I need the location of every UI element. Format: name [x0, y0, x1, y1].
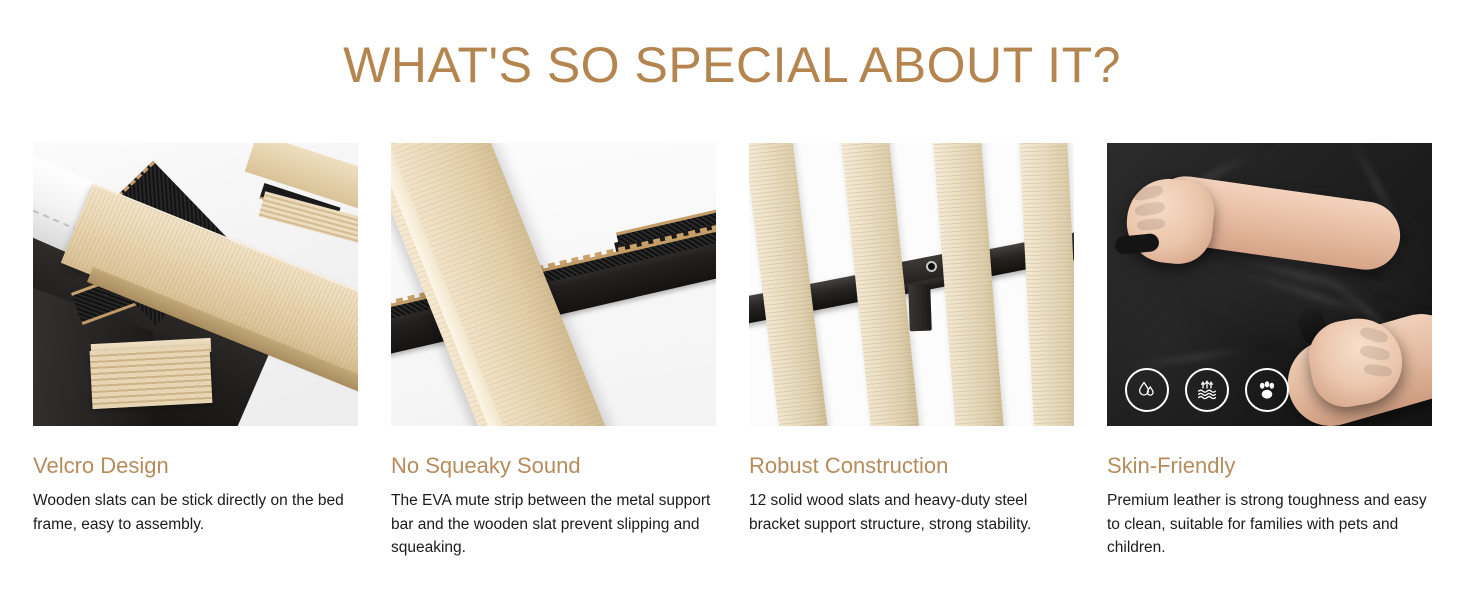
feature-description: Wooden slats can be stick directly on th…	[33, 489, 358, 536]
no-squeaky-sound-image	[391, 143, 716, 426]
skin-friendly-image	[1107, 143, 1432, 426]
breathable-badge	[1185, 368, 1229, 412]
feature-heading: Robust Construction	[749, 454, 1074, 478]
feature-description: The EVA mute strip between the metal sup…	[391, 489, 716, 560]
waterproof-badge	[1125, 368, 1169, 412]
feature-panel-velcro-design: Velcro Design Wooden slats can be stick …	[33, 143, 358, 573]
feature-heading: Velcro Design	[33, 454, 358, 478]
pet-friendly-badge	[1245, 368, 1289, 412]
feature-panel-skin-friendly: Skin-Friendly Premium leather is strong …	[1107, 143, 1432, 573]
page-title: WHAT'S SO SPECIAL ABOUT IT?	[0, 36, 1464, 94]
feature-heading: Skin-Friendly	[1107, 454, 1432, 478]
breathable-waves-icon	[1194, 377, 1220, 403]
feature-panel-robust-construction: Robust Construction 12 solid wood slats …	[749, 143, 1074, 573]
plywood-layer-stack	[90, 345, 213, 409]
water-drops-icon	[1134, 377, 1160, 403]
feature-panel-no-squeaky-sound: No Squeaky Sound The EVA mute strip betw…	[391, 143, 716, 573]
leather-property-badges	[1125, 368, 1289, 412]
feature-description: Premium leather is strong toughness and …	[1107, 489, 1432, 560]
robust-construction-image	[749, 143, 1074, 426]
feature-infographic: WHAT'S SO SPECIAL ABOUT IT? Velcro Desi	[0, 0, 1464, 600]
velcro-design-image	[33, 143, 358, 426]
feature-description: 12 solid wood slats and heavy-duty steel…	[749, 489, 1074, 536]
paw-print-icon	[1254, 377, 1280, 403]
feature-heading: No Squeaky Sound	[391, 454, 716, 478]
center-support-leg	[908, 285, 932, 332]
feature-panels: Velcro Design Wooden slats can be stick …	[33, 143, 1431, 573]
